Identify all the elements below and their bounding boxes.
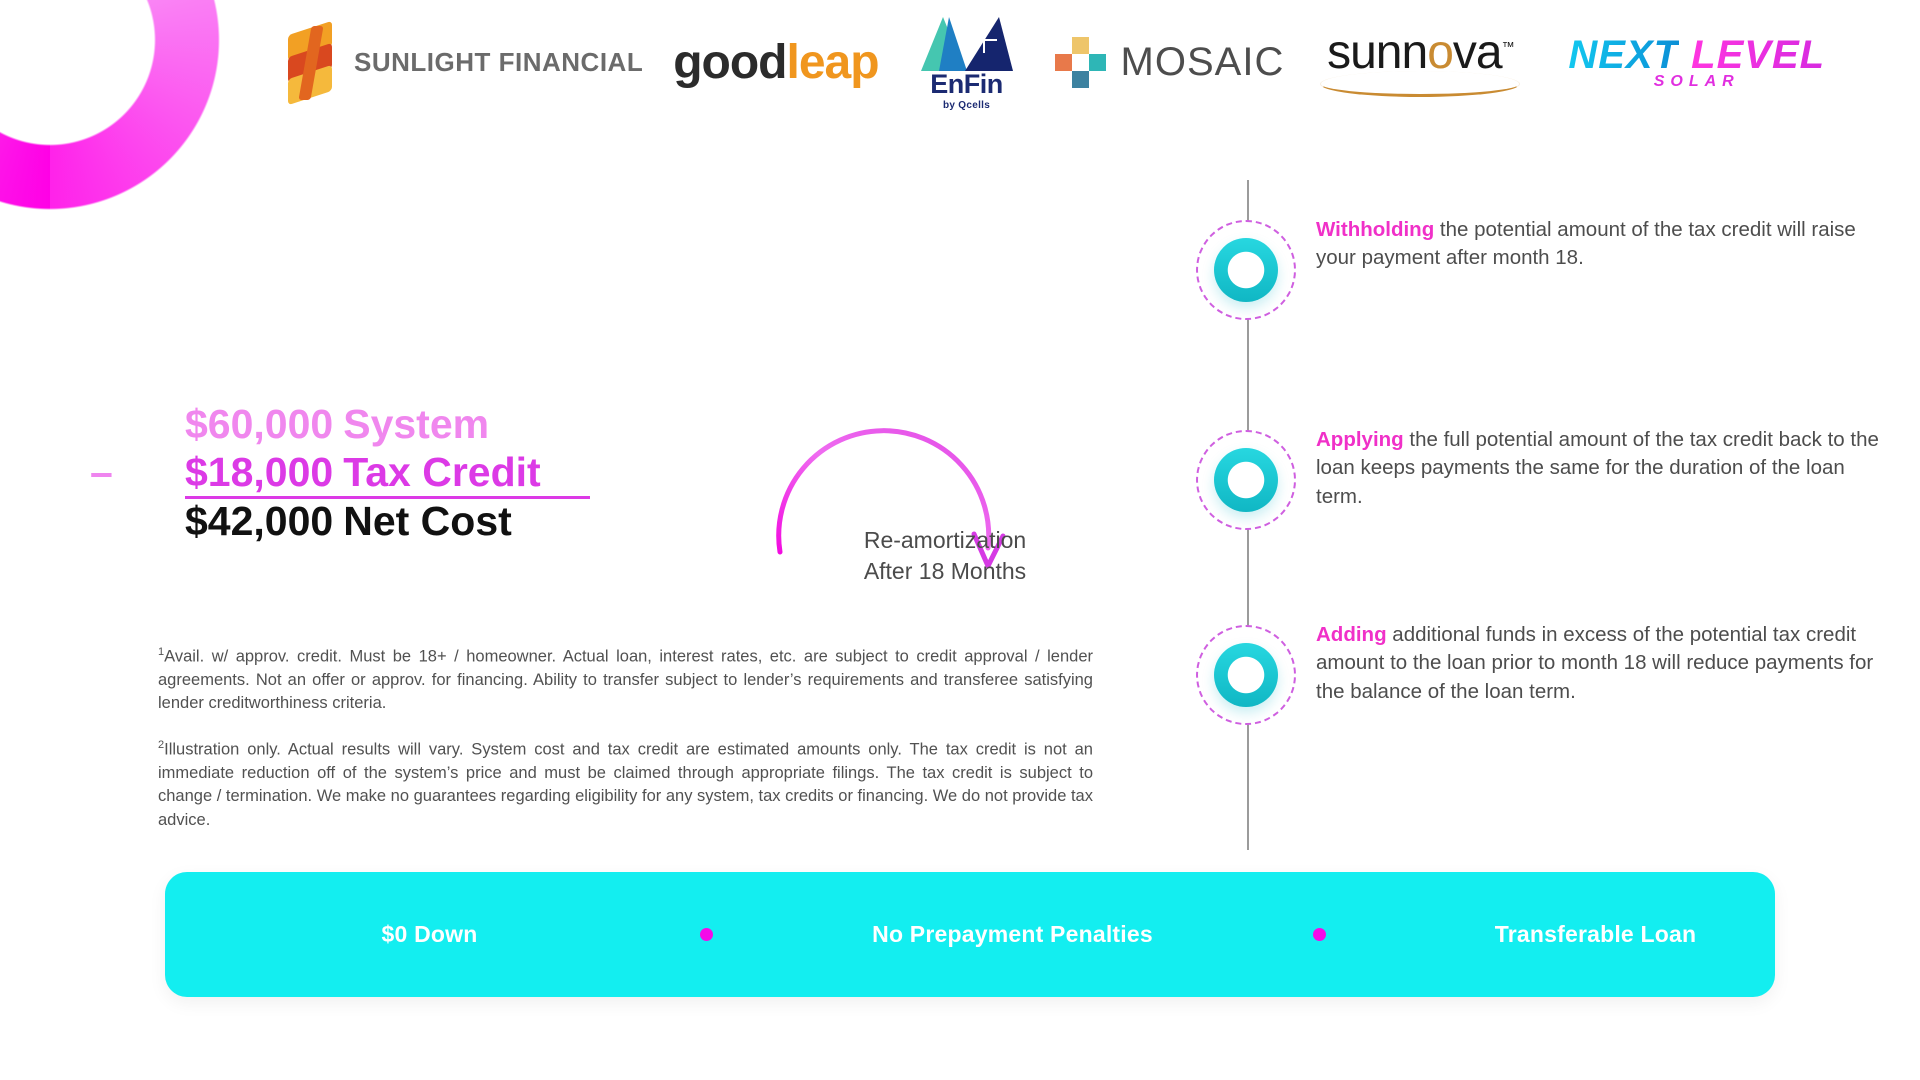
logo-enfin: EnFin by Qcells: [921, 10, 1013, 115]
disclaimer-1-text: Avail. w/ approv. credit. Must be 18+ / …: [158, 648, 1093, 713]
timeline-item-text: Withholding the potential amount of the …: [1316, 210, 1880, 330]
benefit-no-prepayment-penalties: No Prepayment Penalties: [818, 921, 1208, 948]
benefits-banner: $0 Down No Prepayment Penalties Transfer…: [165, 872, 1775, 997]
timeline-keyword: Adding: [1316, 623, 1387, 646]
timeline-item-withholding: Withholding the potential amount of the …: [1180, 210, 1880, 330]
bullet-separator-icon: [1313, 928, 1326, 941]
mosaic-cross-icon: [1055, 37, 1107, 89]
timeline-item-adding: Adding additional funds in excess of the…: [1180, 615, 1880, 735]
timeline-item-applying: Applying the full potential amount of th…: [1180, 420, 1880, 540]
price-system-label: System: [343, 400, 489, 448]
timeline-node-icon: [1180, 420, 1316, 540]
timeline-item-text: Applying the full potential amount of th…: [1316, 420, 1880, 540]
price-row-tax-credit: – $18,000 Tax Credit: [90, 448, 610, 496]
logo-next-level-label: NEXT LEVEL: [1568, 35, 1825, 75]
reamortization-label-line1: Re-amortization: [820, 525, 1070, 556]
price-tax-credit-label: Tax Credit: [343, 448, 540, 496]
price-breakdown: $60,000 System – $18,000 Tax Credit $42,…: [90, 400, 610, 545]
ring-icon: [1214, 448, 1278, 512]
logo-mosaic: MOSAIC: [1055, 10, 1285, 115]
timeline-node-icon: [1180, 210, 1316, 330]
enfin-mountain-icon: [921, 15, 1013, 71]
price-row-system: $60,000 System: [90, 400, 610, 448]
timeline-item-text: Adding additional funds in excess of the…: [1316, 615, 1880, 735]
logo-enfin-sublabel: by Qcells: [943, 100, 990, 111]
disclaimer-2-text: Illustration only. Actual results will v…: [158, 740, 1093, 828]
decorative-ring-graphic: [0, 0, 250, 240]
timeline-keyword: Applying: [1316, 428, 1404, 451]
slide-canvas: SUNLIGHT FINANCIAL goodleap EnFin by Qce…: [0, 0, 1920, 1080]
price-net-amount: $42,000: [185, 497, 333, 545]
timeline-node-icon: [1180, 615, 1316, 735]
logo-sunlight-financial: SUNLIGHT FINANCIAL: [280, 10, 643, 115]
disclaimer-block: 1Avail. w/ approv. credit. Must be 18+ /…: [158, 645, 1093, 832]
logo-sunnova-label: sunnova™: [1327, 29, 1514, 77]
logo-next-level-solar: NEXT LEVEL SOLAR: [1568, 10, 1825, 115]
price-minus-operator: –: [90, 448, 185, 496]
bullet-separator-icon: [700, 928, 713, 941]
reamortization-label: Re-amortization After 18 Months: [820, 525, 1070, 587]
timeline: Withholding the potential amount of the …: [1180, 170, 1880, 860]
logo-enfin-label: EnFin: [930, 71, 1003, 98]
price-row-net-cost: $42,000 Net Cost: [90, 497, 610, 545]
logo-sunnova: sunnova™: [1320, 10, 1520, 115]
price-net-label: Net Cost: [343, 497, 512, 545]
timeline-keyword: Withholding: [1316, 218, 1434, 241]
benefit-zero-down: $0 Down: [265, 921, 595, 948]
logo-goodleap-label: goodleap: [673, 39, 878, 87]
logo-mosaic-label: MOSAIC: [1121, 40, 1285, 85]
price-subtotal-rule: [185, 496, 590, 499]
ring-icon: [1214, 643, 1278, 707]
logo-next-level-sublabel: SOLAR: [1654, 73, 1740, 91]
price-tax-credit-amount: $18,000: [185, 448, 333, 496]
disclaimer-2: 2Illustration only. Actual results will …: [158, 738, 1093, 832]
logo-sunlight-financial-label: SUNLIGHT FINANCIAL: [354, 47, 643, 78]
lender-logo-bar: SUNLIGHT FINANCIAL goodleap EnFin by Qce…: [280, 10, 1910, 115]
disclaimer-1: 1Avail. w/ approv. credit. Must be 18+ /…: [158, 645, 1093, 716]
timeline-body: additional funds in excess of the potent…: [1316, 623, 1873, 703]
sunlight-financial-icon: [280, 24, 340, 102]
ring-icon: [1214, 238, 1278, 302]
logo-goodleap: goodleap: [673, 10, 878, 115]
price-system-amount: $60,000: [185, 400, 333, 448]
benefit-transferable-loan: Transferable Loan: [1431, 921, 1761, 948]
reamortization-label-line2: After 18 Months: [820, 556, 1070, 587]
